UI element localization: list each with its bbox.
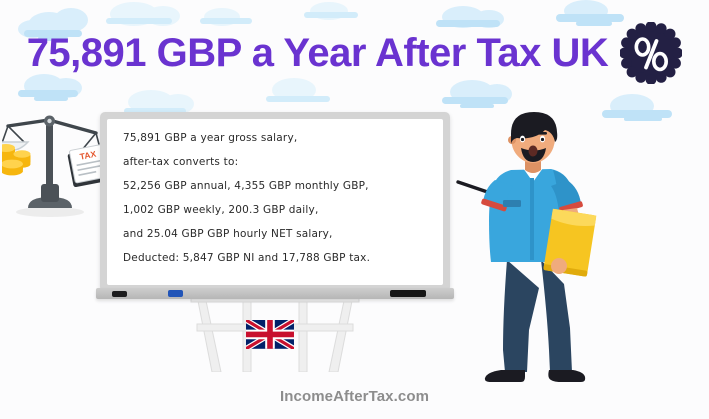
percent-badge-icon [620, 22, 682, 84]
site-brand-watermark: IncomeAfterTax.com [0, 388, 709, 405]
cloud-decor [438, 78, 530, 108]
board-line: and 25.04 GBP GBP hourly NET salary, [123, 229, 429, 240]
board-line: 1,002 GBP weekly, 200.3 GBP daily, [123, 205, 429, 216]
infographic-canvas: 75,891 GBP a Year After Tax UK [0, 0, 709, 419]
balance-scales-icon: TAX [2, 108, 110, 220]
eraser-icon [390, 290, 426, 297]
whiteboard-surface: 75,891 GBP a year gross salary, after-ta… [107, 119, 443, 285]
whiteboard-tray [96, 288, 454, 299]
uk-flag-icon [246, 320, 294, 349]
board-line: Deducted: 5,847 GBP NI and 17,788 GBP ta… [123, 253, 429, 264]
marker-blue-icon [168, 290, 183, 297]
marker-black-icon [112, 291, 127, 297]
board-line: 52,256 GBP annual, 4,355 GBP monthly GBP… [123, 181, 429, 192]
board-line: 75,891 GBP a year gross salary, [123, 133, 429, 144]
whiteboard: 75,891 GBP a year gross salary, after-ta… [100, 112, 450, 292]
title-row: 75,891 GBP a Year After Tax UK [0, 24, 709, 82]
board-line: after-tax converts to: [123, 157, 429, 168]
cloud-decor [300, 2, 384, 24]
page-title: 75,891 GBP a Year After Tax UK [27, 33, 609, 73]
teacher-presenter-illustration [455, 108, 630, 383]
